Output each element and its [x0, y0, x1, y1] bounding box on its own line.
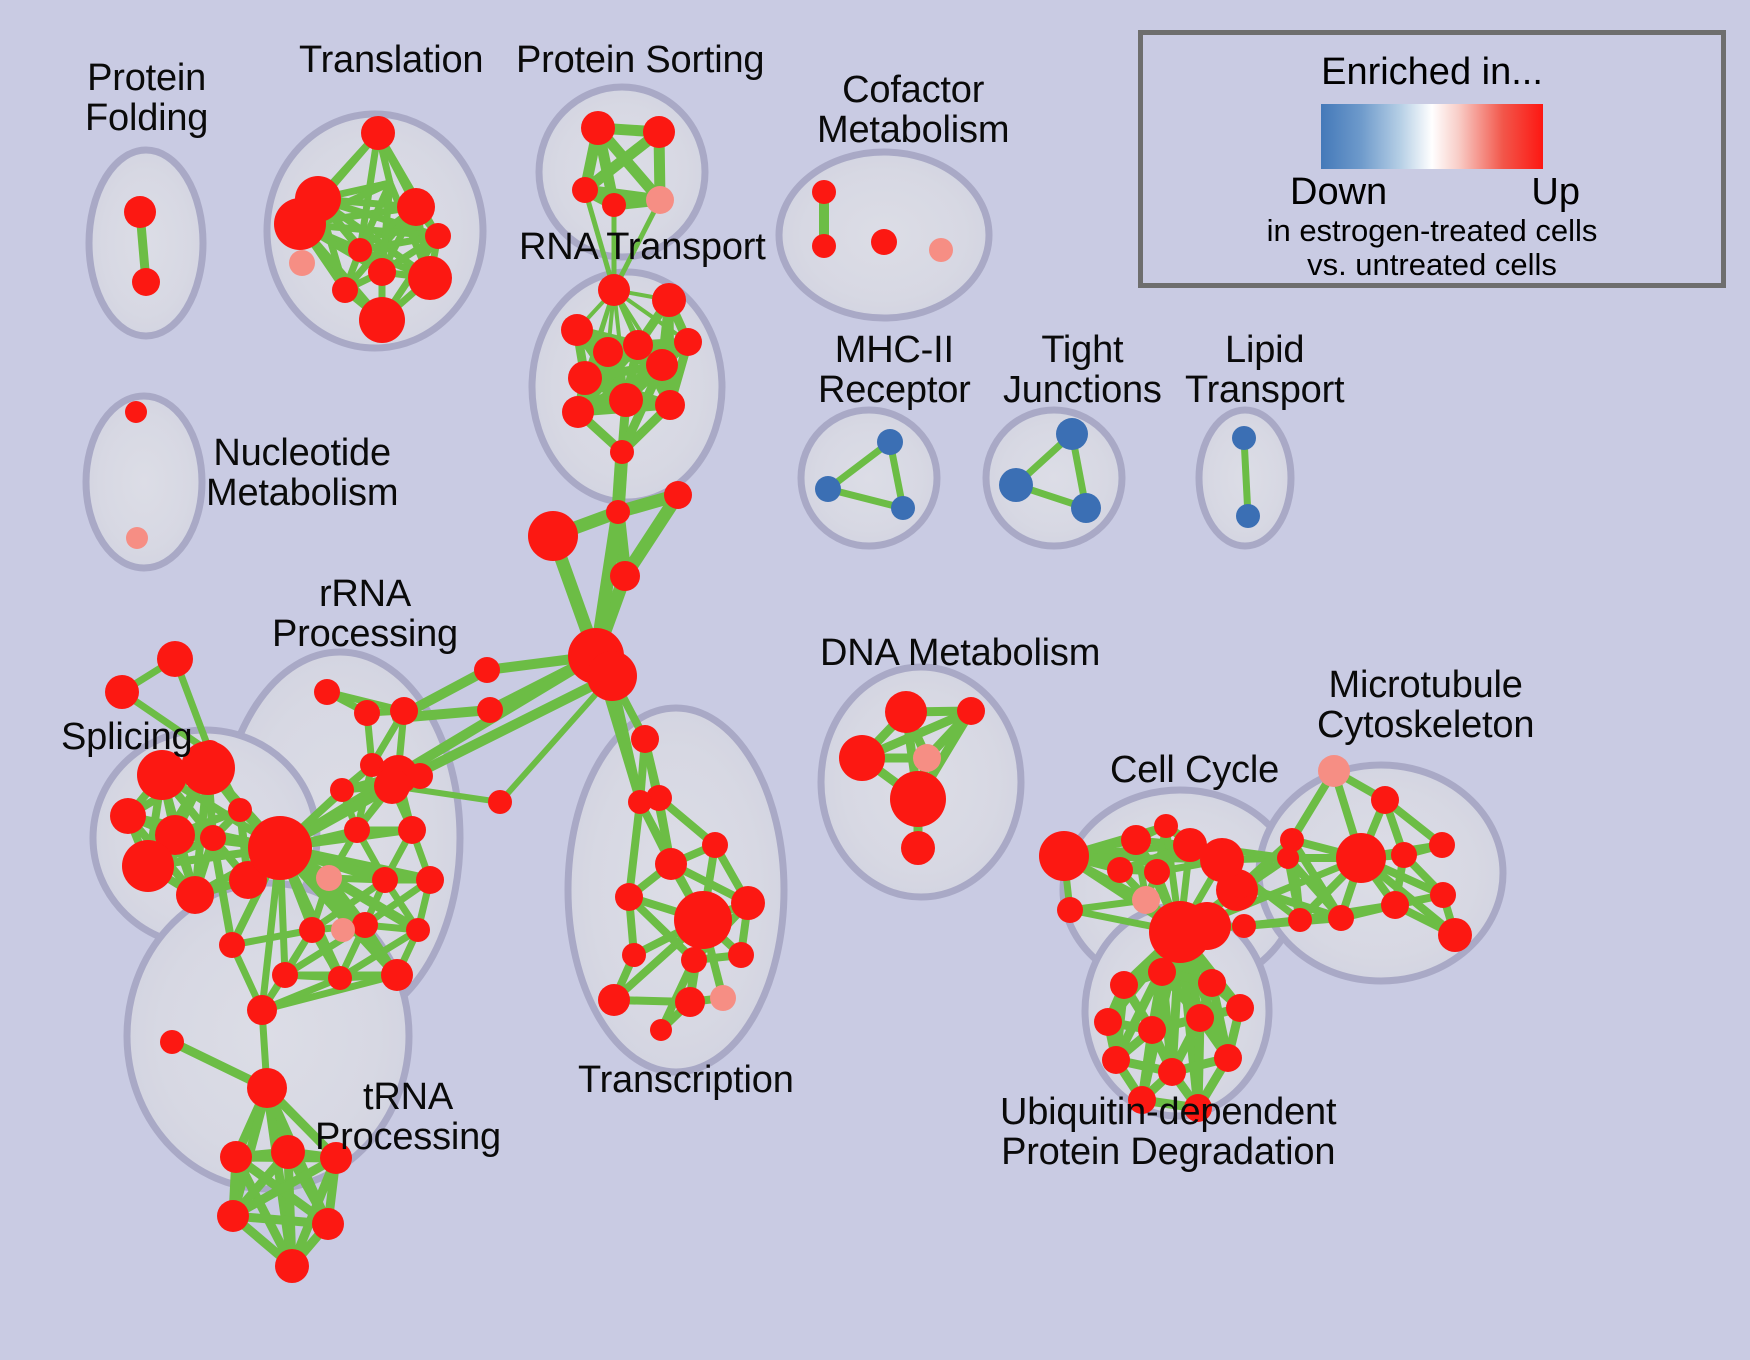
node — [137, 750, 187, 800]
node — [1214, 1044, 1242, 1072]
node — [200, 825, 226, 851]
node — [681, 947, 707, 973]
node — [891, 496, 915, 520]
legend-color-gradient — [1321, 104, 1543, 169]
node — [957, 697, 985, 725]
node — [271, 1135, 305, 1169]
node — [622, 943, 646, 967]
node — [871, 229, 897, 255]
node — [812, 180, 836, 204]
node — [408, 256, 452, 300]
legend-caption-line2: vs. untreated cells — [1307, 248, 1557, 283]
node — [361, 116, 395, 150]
node — [598, 984, 630, 1016]
node — [247, 995, 277, 1025]
node — [416, 866, 444, 894]
node — [568, 361, 602, 395]
legend-caption-line1: in estrogen-treated cells — [1267, 214, 1598, 249]
node — [593, 337, 623, 367]
node — [1391, 842, 1417, 868]
node — [1158, 1058, 1186, 1086]
node — [160, 1030, 184, 1054]
node — [815, 476, 841, 502]
node — [1229, 874, 1253, 898]
node — [1138, 1016, 1166, 1044]
node — [289, 250, 315, 276]
node — [728, 942, 754, 968]
node — [1438, 918, 1472, 952]
legend-panel: Enriched in... Down Up in estrogen-treat… — [1138, 30, 1726, 288]
node — [390, 697, 418, 725]
enrichment-map-figure: Protein Folding Translation Protein Sort… — [0, 0, 1750, 1360]
node — [228, 798, 252, 822]
node — [425, 223, 451, 249]
node — [328, 966, 352, 990]
node — [1336, 833, 1386, 883]
node — [1094, 1008, 1122, 1036]
node — [913, 744, 941, 772]
node — [176, 876, 214, 914]
node — [272, 962, 298, 988]
node — [610, 440, 634, 464]
node — [890, 771, 946, 827]
node — [1102, 1046, 1130, 1074]
node — [477, 697, 503, 723]
node — [561, 314, 593, 346]
node — [407, 763, 433, 789]
node — [812, 234, 836, 258]
node — [1318, 755, 1350, 787]
node — [609, 383, 643, 417]
node — [877, 429, 903, 455]
node — [398, 816, 426, 844]
node — [652, 283, 686, 317]
legend-high-label: Up — [1531, 171, 1580, 214]
node — [885, 691, 927, 733]
node — [1232, 914, 1256, 938]
node — [643, 116, 675, 148]
node — [330, 778, 354, 802]
node — [248, 816, 312, 880]
node — [628, 790, 652, 814]
node — [217, 1200, 249, 1232]
node — [731, 886, 765, 920]
node — [368, 258, 396, 286]
node — [1132, 886, 1160, 914]
node — [702, 832, 728, 858]
node — [1226, 994, 1254, 1022]
node — [219, 932, 245, 958]
node — [299, 917, 325, 943]
node — [710, 985, 736, 1011]
node — [332, 277, 358, 303]
node — [646, 186, 674, 214]
node — [1128, 1086, 1156, 1114]
node — [274, 198, 326, 250]
node — [1107, 857, 1133, 883]
node — [124, 196, 156, 228]
node — [655, 390, 685, 420]
node — [320, 1142, 352, 1174]
node — [999, 468, 1033, 502]
node — [1057, 897, 1083, 923]
node — [1121, 825, 1151, 855]
node — [674, 328, 702, 356]
legend-title: Enriched in... — [1321, 51, 1543, 94]
node — [1148, 958, 1176, 986]
node — [587, 651, 637, 701]
node — [110, 798, 146, 834]
node — [348, 238, 372, 262]
node — [125, 401, 147, 423]
node — [1039, 831, 1089, 881]
node — [528, 511, 578, 561]
node — [1430, 882, 1456, 908]
node — [374, 768, 410, 804]
node — [354, 700, 380, 726]
node — [602, 193, 626, 217]
legend-endpoints: Down Up — [1290, 171, 1580, 214]
node — [901, 831, 935, 865]
node — [316, 865, 342, 891]
node — [929, 238, 953, 262]
node — [581, 111, 615, 145]
node — [839, 735, 885, 781]
node — [623, 330, 653, 360]
node — [1277, 847, 1299, 869]
legend-low-label: Down — [1290, 171, 1387, 214]
node — [1328, 905, 1354, 931]
node — [247, 1068, 287, 1108]
node — [314, 679, 340, 705]
node — [344, 817, 370, 843]
node — [1183, 902, 1231, 950]
node — [122, 840, 174, 892]
node — [675, 987, 705, 1017]
node — [397, 188, 435, 226]
node — [610, 561, 640, 591]
node — [646, 349, 678, 381]
node — [655, 848, 687, 880]
node — [1371, 786, 1399, 814]
node — [1288, 908, 1312, 932]
node — [126, 527, 148, 549]
node — [381, 959, 413, 991]
node — [1144, 859, 1170, 885]
node — [1232, 426, 1256, 450]
node — [352, 912, 378, 938]
node — [615, 883, 643, 911]
node — [488, 790, 512, 814]
node — [1198, 969, 1226, 997]
node — [1110, 971, 1138, 999]
node — [474, 657, 500, 683]
node — [359, 297, 405, 343]
node — [275, 1249, 309, 1283]
node — [1184, 1094, 1212, 1122]
node — [331, 918, 355, 942]
node — [1381, 891, 1409, 919]
node — [650, 1019, 672, 1041]
node — [674, 891, 732, 949]
node — [406, 918, 430, 942]
node — [1186, 1004, 1214, 1032]
node — [1154, 814, 1178, 838]
node — [132, 268, 160, 296]
node — [631, 725, 659, 753]
node — [572, 177, 598, 203]
blob-protein-sorting — [539, 87, 705, 257]
node — [312, 1208, 344, 1240]
node — [664, 481, 692, 509]
node — [181, 741, 235, 795]
node — [157, 641, 193, 677]
node — [372, 867, 398, 893]
node — [1056, 418, 1088, 450]
node — [1236, 504, 1260, 528]
node — [562, 396, 594, 428]
node — [598, 274, 630, 306]
node — [606, 500, 630, 524]
node — [1429, 832, 1455, 858]
node — [1071, 493, 1101, 523]
node — [105, 675, 139, 709]
node — [220, 1141, 252, 1173]
